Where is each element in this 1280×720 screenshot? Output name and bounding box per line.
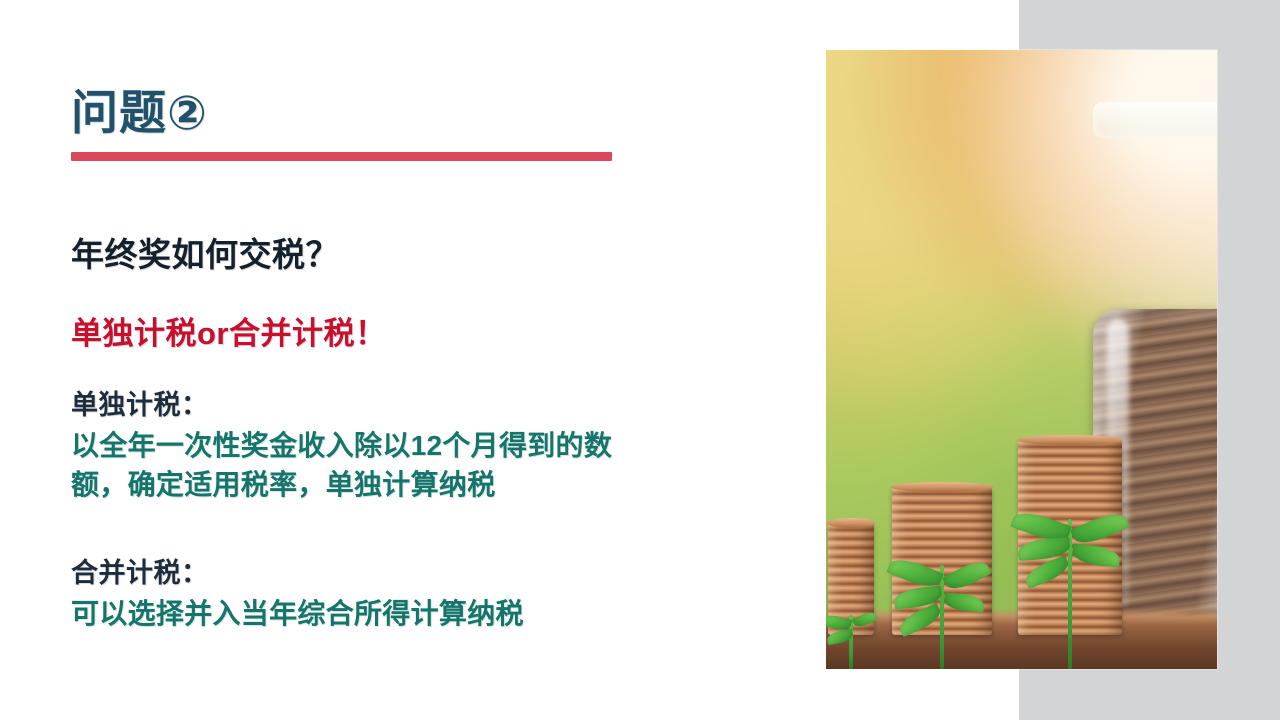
page-title: 问题② bbox=[71, 74, 208, 143]
block-body-combined: 可以选择并入当年综合所得计算纳税 bbox=[71, 594, 524, 634]
explanation-block-separate: 单独计税： 以全年一次性奖金收入除以12个月得到的数 额，确定适用税率，单独计算… bbox=[71, 388, 612, 505]
body-line: 额，确定适用税率，单独计算纳税 bbox=[71, 465, 612, 505]
slide-root: 问题② 年终奖如何交税？ 单独计税or合并计税！ 单独计税： 以全年一次性奖金收… bbox=[0, 0, 1280, 720]
block-label-combined: 合并计税： bbox=[71, 556, 524, 592]
block-body-separate: 以全年一次性奖金收入除以12个月得到的数 额，确定适用税率，单独计算纳税 bbox=[71, 426, 612, 506]
question-heading: 年终奖如何交税？ bbox=[71, 228, 339, 276]
jar-neck bbox=[1093, 102, 1217, 138]
answer-highlight: 单独计税or合并计税！ bbox=[71, 308, 387, 353]
body-line: 可以选择并入当年综合所得计算纳税 bbox=[71, 594, 524, 634]
explanation-block-combined: 合并计税： 可以选择并入当年综合所得计算纳税 bbox=[71, 556, 524, 633]
text-column: 问题② 年终奖如何交税？ 单独计税or合并计税！ 单独计税： 以全年一次性奖金收… bbox=[71, 0, 771, 720]
photo-frame bbox=[826, 50, 1217, 669]
coins-and-sprouts-photo bbox=[826, 50, 1217, 669]
title-underline-rule bbox=[71, 152, 612, 161]
body-line: 以全年一次性奖金收入除以12个月得到的数 bbox=[71, 426, 612, 466]
block-label-separate: 单独计税： bbox=[71, 388, 612, 424]
